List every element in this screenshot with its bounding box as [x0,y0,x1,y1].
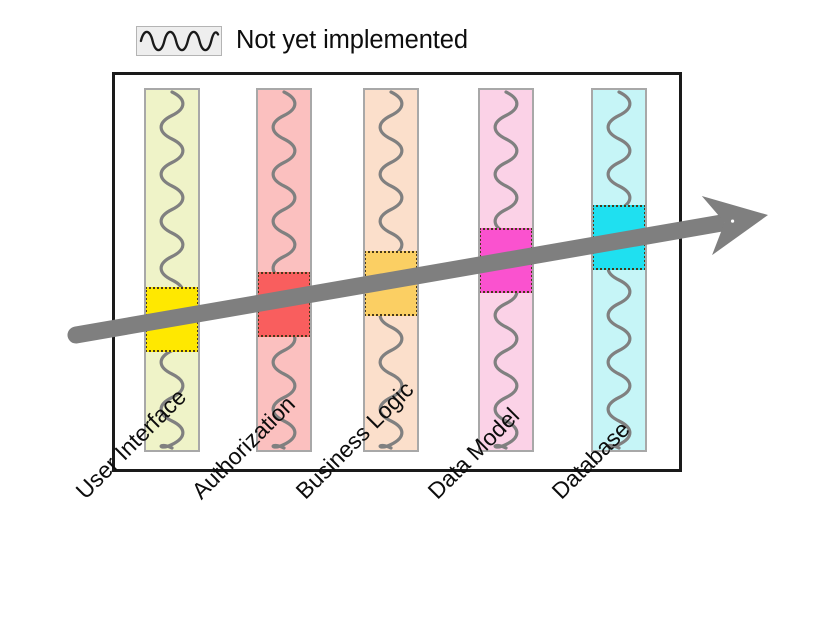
column-database [591,88,647,452]
legend-label: Not yet implemented [236,28,468,54]
implemented-band-3 [479,228,533,293]
column-data-model [478,88,534,452]
arrow-head [702,196,768,255]
wave-pattern-swatch-icon [136,26,222,56]
legend: Not yet implemented [136,26,468,56]
wave-pattern-icon [593,90,645,450]
arrow-head-dot [731,220,734,223]
implemented-band-2 [364,251,418,316]
implemented-band-0 [145,287,199,352]
implemented-band-4 [592,205,646,270]
implemented-band-1 [257,272,311,337]
